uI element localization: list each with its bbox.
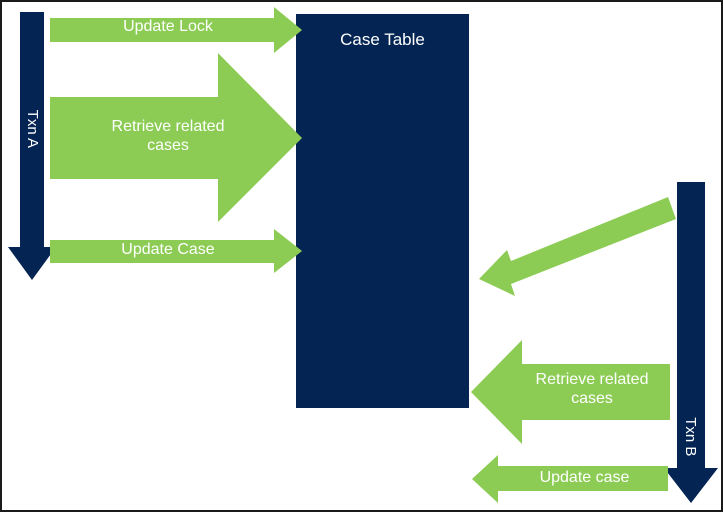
- update-case-right-arrow[interactable]: [472, 455, 668, 503]
- update-case-arrow[interactable]: [50, 229, 302, 273]
- update-lock-arrow[interactable]: [50, 7, 302, 53]
- txn-b-arrow[interactable]: [664, 182, 718, 503]
- txn-a-arrow[interactable]: [8, 12, 56, 280]
- retrieve-related-cases-left-arrow[interactable]: [50, 53, 302, 222]
- diagram-canvas: Case Table Txn A Txn B Update Lock Retri…: [0, 0, 723, 512]
- update-lock-diagonal-arrow[interactable]: [479, 197, 676, 296]
- diagram-shapes: [2, 2, 723, 512]
- retrieve-related-cases-right-arrow[interactable]: [471, 340, 670, 444]
- case-table-box[interactable]: [296, 14, 469, 408]
